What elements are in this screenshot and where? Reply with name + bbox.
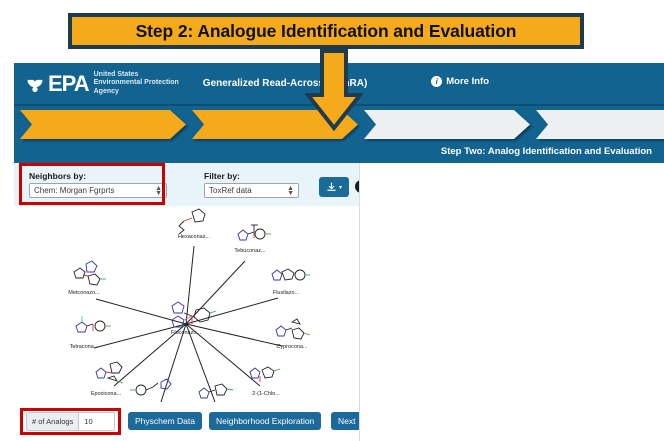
node-label-9: Metconazo... bbox=[68, 290, 100, 296]
more-info-link[interactable]: i More Info bbox=[431, 76, 489, 87]
download-icon bbox=[326, 182, 337, 193]
epa-wordmark: EPA bbox=[48, 73, 89, 95]
molecule-1 bbox=[179, 209, 205, 234]
molecule-3 bbox=[272, 269, 310, 280]
molecule-6 bbox=[199, 384, 233, 398]
agency-line-2: Environmental Protection bbox=[94, 79, 179, 86]
highlight-box-neighbors bbox=[19, 163, 165, 205]
step-callout-banner: Step 2: Analogue Identification and Eval… bbox=[68, 13, 584, 49]
epa-seal-icon bbox=[25, 74, 45, 94]
network-edges bbox=[94, 246, 282, 402]
agency-line-3: Agency bbox=[94, 88, 119, 95]
info-circle-icon: i bbox=[431, 76, 442, 87]
analog-network-graph[interactable]: Fluconazo... Hexaconaz... Tebuconaz... F… bbox=[14, 206, 359, 405]
select-spinner-icon: ▲▼ bbox=[287, 186, 294, 196]
filter-by-label: Filter by: bbox=[204, 171, 299, 181]
node-label-7: Epoxicona... bbox=[91, 391, 121, 397]
step-chevron-3[interactable] bbox=[364, 110, 530, 139]
filter-by-value: ToxRef data bbox=[209, 186, 252, 195]
step-chevron-4[interactable] bbox=[536, 110, 664, 139]
node-label-3: Cyprocona... bbox=[276, 344, 307, 350]
filter-by-select[interactable]: ToxRef data ▲▼ bbox=[204, 183, 299, 198]
molecule-9 bbox=[76, 316, 111, 332]
node-label-2: Flusilazo... bbox=[273, 290, 299, 296]
current-step-label: Step Two: Analog Identification and Eval… bbox=[441, 146, 652, 157]
main-body: Neighbors by: Chem: Morgan Fgrprts ▲▼ Fi… bbox=[14, 163, 664, 441]
molecule-7 bbox=[130, 379, 171, 395]
download-button[interactable]: ▾ bbox=[319, 177, 349, 197]
node-label-8: Tetracona... bbox=[70, 344, 99, 350]
agency-line-1: United States bbox=[94, 71, 139, 78]
right-results-pane bbox=[359, 163, 664, 441]
more-info-label: More Info bbox=[446, 76, 489, 87]
down-arrow-icon bbox=[305, 49, 363, 131]
epa-logo[interactable]: EPA United States Environmental Protecti… bbox=[25, 71, 179, 96]
molecule-center bbox=[172, 302, 216, 327]
screenshot-root: Step 2: Analogue Identification and Eval… bbox=[0, 0, 664, 441]
molecule-10 bbox=[74, 261, 106, 285]
step-callout-text: Step 2: Analogue Identification and Eval… bbox=[136, 21, 517, 42]
node-label-4: 2-(1-Chlo... bbox=[252, 391, 280, 397]
filter-by-group: Filter by: ToxRef data ▲▼ bbox=[204, 171, 299, 198]
molecule-8 bbox=[96, 362, 123, 383]
molecule-2 bbox=[238, 225, 271, 240]
node-label-1: Tebuconaz... bbox=[234, 248, 265, 254]
node-label-center: Fluconazo... bbox=[171, 330, 201, 336]
download-caret-icon: ▾ bbox=[339, 184, 342, 191]
molecule-4 bbox=[276, 319, 310, 339]
molecule-5 bbox=[250, 367, 280, 382]
epa-agency-subtitle: United States Environmental Protection A… bbox=[94, 71, 179, 96]
physchem-data-button[interactable]: Physchem Data bbox=[128, 412, 202, 430]
node-label-0: Hexaconaz... bbox=[178, 234, 210, 240]
neighborhood-exploration-button[interactable]: Neighborhood Exploration bbox=[209, 412, 321, 430]
highlight-box-analogs bbox=[20, 408, 121, 435]
step-chevron-1[interactable] bbox=[20, 110, 186, 139]
next-button[interactable]: Next bbox=[331, 412, 362, 430]
